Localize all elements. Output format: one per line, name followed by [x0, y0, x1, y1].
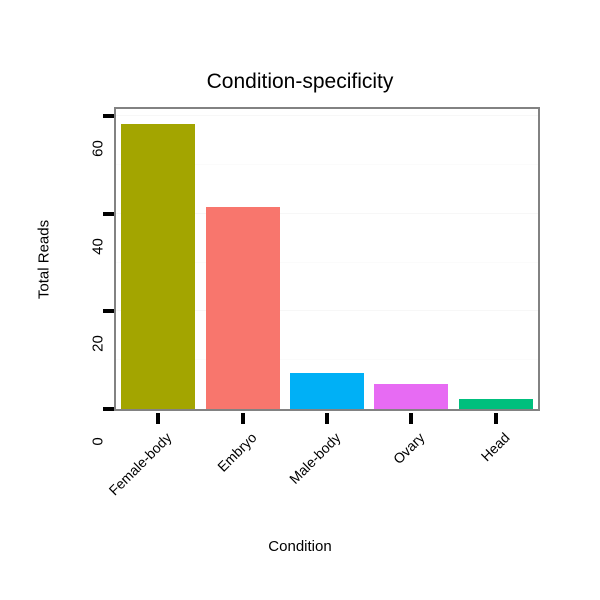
- chart-title: Condition-specificity: [0, 69, 600, 95]
- bars-group: [116, 109, 538, 409]
- x-tick-mark: [494, 413, 498, 424]
- y-axis-title: Total Reads: [37, 205, 52, 315]
- y-tick-label: 0: [91, 410, 106, 474]
- x-tick-mark: [156, 413, 160, 424]
- x-tick-mark: [241, 413, 245, 424]
- y-tick-label: 20: [91, 312, 106, 376]
- bar-male-body: [290, 373, 364, 409]
- bar-head: [459, 399, 533, 409]
- bar-female-body: [121, 124, 195, 409]
- bar-chart: Condition-specificity 0204060 Total Read…: [0, 0, 600, 600]
- y-tick-label: 60: [91, 117, 106, 181]
- y-tick-label: 40: [91, 214, 106, 278]
- bar-ovary: [374, 384, 448, 409]
- bar-embryo: [206, 207, 280, 409]
- plot-panel: [114, 107, 540, 411]
- x-tick-mark: [325, 413, 329, 424]
- x-axis-title: Condition: [0, 538, 600, 556]
- x-tick-mark: [409, 413, 413, 424]
